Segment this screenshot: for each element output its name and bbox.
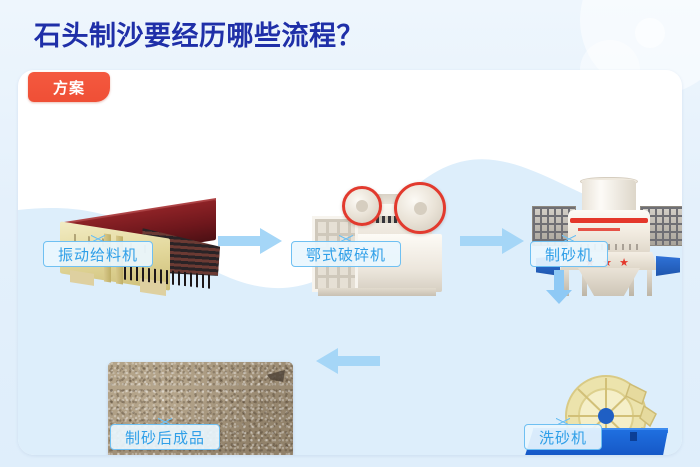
scheme-tag: 方案 [28,72,110,102]
caption-notch-icon [562,235,576,242]
label-finished-sand[interactable]: 制砂后成品 [110,424,220,450]
page-title: 石头制沙要经历哪些流程？ [34,14,364,53]
label-text: 鄂式破碎机 [306,244,386,265]
arrow-washer-to-sand-icon [310,346,382,376]
arrow-jaw-to-vsi-icon [458,226,528,256]
caption-notch-icon [158,418,172,425]
label-text: 制砂机 [545,244,593,265]
caption-notch-icon [556,418,570,425]
poster-canvas: 石头制沙要经历哪些流程？ [0,0,700,467]
scheme-tag-label: 方案 [53,77,85,98]
jaw-crusher-photo [298,178,458,300]
decorative-blob [635,18,665,48]
label-text: 洗砂机 [539,427,587,448]
label-vibrating-feeder[interactable]: 振动给料机 [43,241,153,267]
arrow-feeder-to-jaw-icon [216,226,286,256]
label-sand-washer[interactable]: 洗砂机 [524,424,602,450]
label-text: 振动给料机 [58,244,138,265]
label-sand-maker[interactable]: 制砂机 [530,241,608,267]
caption-notch-icon [91,235,105,242]
label-text: 制砂后成品 [125,427,205,448]
arrow-vsi-to-washer-icon [544,268,574,306]
caption-notch-icon [339,235,353,242]
label-jaw-crusher[interactable]: 鄂式破碎机 [291,241,401,267]
